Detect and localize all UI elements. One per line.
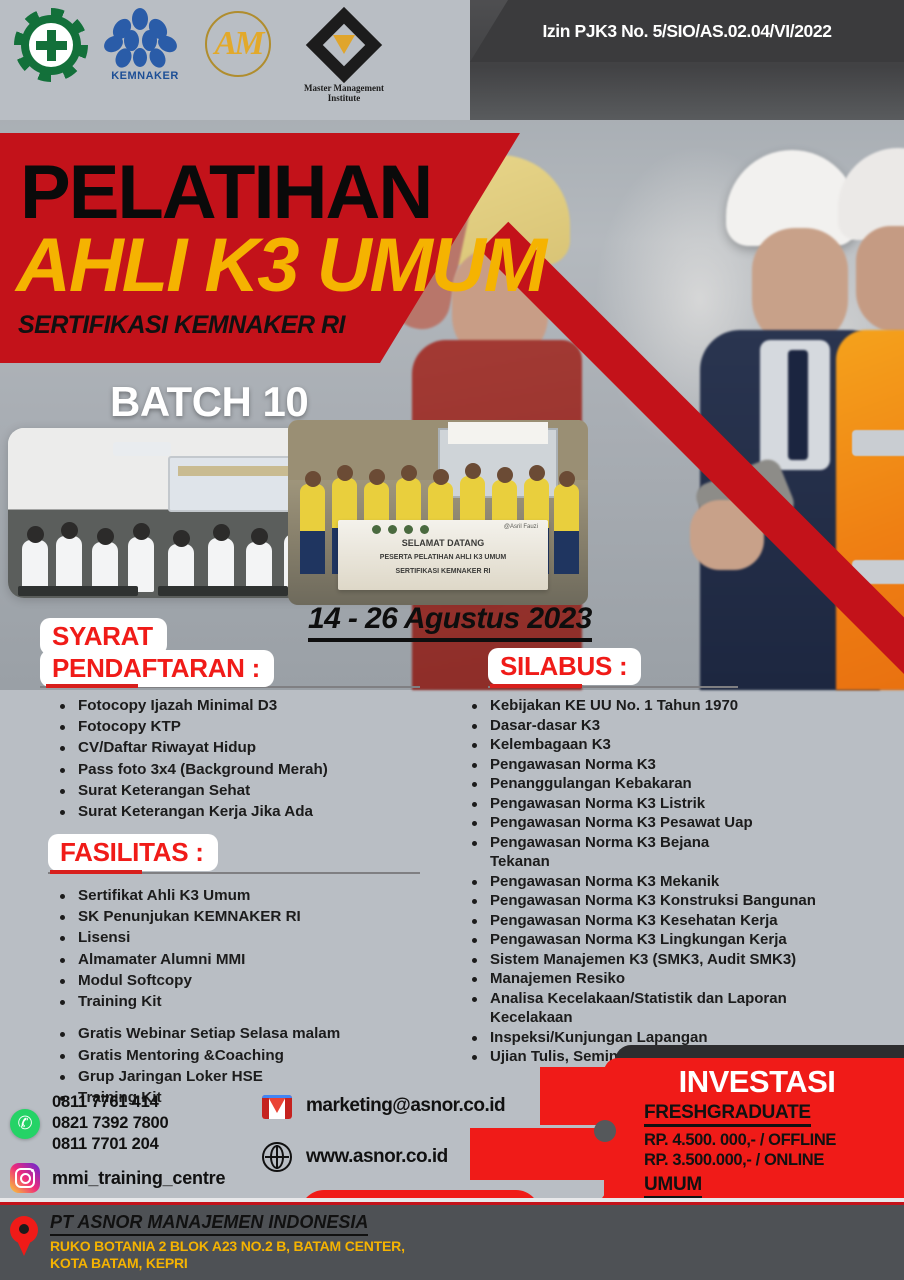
title-line-sertifikasi: SERTIFIKASI KEMNAKER RI [18, 311, 345, 340]
list-item: Fotocopy Ijazah Minimal D3 [56, 696, 456, 716]
banner-credit: @Asril Fauzi [504, 524, 538, 530]
location-pin-icon [10, 1216, 38, 1256]
worker-hand [690, 500, 764, 570]
list-item: Pengawasan Norma K3 Lingkungan Kerja [468, 930, 898, 950]
am-monogram-logo: AM [202, 8, 274, 80]
kemnaker-logo-caption: KEMNAKER [106, 70, 184, 82]
poster-root: KEMNAKER AM Master Management Institute … [0, 0, 904, 1280]
mmi-logo-caption: Master Management Institute [292, 83, 396, 103]
title-line-ahli-k3-umum: AHLI K3 UMUM [16, 228, 545, 304]
list-item: Penanggulangan Kebakaran [468, 774, 898, 794]
list-item: Analisa Kecelakaan/Statistik dan Laporan [468, 989, 898, 1009]
company-address: RUKO BOTANIA 2 BLOK A23 NO.2 B, BATAM CE… [50, 1238, 405, 1272]
welcome-banner: @Asril Fauzi SELAMAT DATANG PESERTA PELA… [338, 520, 548, 590]
instagram-contact[interactable]: mmi_training_centre [10, 1163, 225, 1193]
kemnaker-logo: KEMNAKER [106, 8, 184, 82]
website-contact[interactable]: www.asnor.co.id [262, 1142, 448, 1172]
list-item: Manajemen Resiko [468, 969, 898, 989]
list-item: Almamater Alumni MMI [56, 950, 456, 970]
investasi-tier2-label: UMUM [644, 1174, 702, 1199]
list-item: Pengawasan Norma K3 Bejana [468, 833, 898, 853]
training-date: 14 - 26 Agustus 2023 [308, 602, 592, 642]
title-text-group: PELATIHAN AHLI K3 UMUM SERTIFIKASI KEMNA… [0, 133, 904, 373]
permit-ribbon: Izin PJK3 No. 5/SIO/AS.02.04/VI/2022 [470, 0, 904, 62]
whatsapp-contact[interactable]: 0811 7761 414 0821 7392 7800 0811 7701 2… [10, 1092, 225, 1155]
address-line-2: KOTA BATAM, KEPRI [50, 1255, 405, 1272]
silabus-list: Kebijakan KE UU No. 1 Tahun 1970 Dasar-d… [468, 696, 898, 1067]
am-monogram-text: AM [202, 8, 274, 80]
list-item: Surat Keterangan Kerja Jika Ada [56, 802, 456, 822]
syarat-rule-accent [46, 684, 138, 688]
mmi-diamond-logo: Master Management Institute [292, 8, 396, 103]
k3-gear-logo [14, 8, 88, 82]
whatsapp-numbers: 0811 7761 414 0821 7392 7800 0811 7701 2… [52, 1092, 169, 1155]
list-item: SK Penunjukan KEMNAKER RI [56, 907, 456, 927]
silabus-rule-accent [490, 684, 582, 688]
company-name: PT ASNOR MANAJEMEN INDONESIA [50, 1212, 368, 1236]
fasilitas-heading: FASILITAS : [48, 834, 218, 871]
logo-group: KEMNAKER AM Master Management Institute [14, 8, 396, 103]
investasi-tier1-label: FRESHGRADUATE [644, 1102, 811, 1127]
investasi-title: INVESTASI [618, 1064, 896, 1100]
syarat-heading-line2: PENDAFTARAN : [40, 650, 274, 687]
investasi-tier1-row1: RP. 4.500. 000,- / OFFLINE [644, 1130, 896, 1150]
contact-block: 0811 7761 414 0821 7392 7800 0811 7701 2… [10, 1092, 225, 1193]
list-item: Surat Keterangan Sehat [56, 781, 456, 801]
title-line-pelatihan: PELATIHAN [20, 155, 431, 231]
list-item: CV/Daftar Riwayat Hidup [56, 738, 456, 758]
fasilitas-rule-accent [50, 870, 142, 874]
list-item: Pengawasan Norma K3 [468, 755, 898, 775]
phone-number: 0811 7701 204 [52, 1134, 169, 1155]
footer-divider-red [0, 1202, 904, 1205]
address-line-1: RUKO BOTANIA 2 BLOK A23 NO.2 B, BATAM CE… [50, 1238, 405, 1255]
list-item: Grup Jaringan Loker HSE [56, 1067, 456, 1087]
list-item: Pengawasan Norma K3 Listrik [468, 794, 898, 814]
website-url: www.asnor.co.id [306, 1146, 448, 1168]
hivis-band-upper [852, 430, 904, 456]
phone-number: 0811 7761 414 [52, 1092, 169, 1113]
hivis-jacket [836, 330, 904, 690]
list-item: Gratis Webinar Setiap Selasa malam [56, 1024, 456, 1044]
list-item: Pengawasan Norma K3 Konstruksi Bangunan [468, 891, 898, 911]
permit-text: Izin PJK3 No. 5/SIO/AS.02.04/VI/2022 [542, 21, 831, 42]
list-item: Kebijakan KE UU No. 1 Tahun 1970 [468, 696, 898, 716]
instagram-icon [10, 1163, 40, 1193]
fasilitas-list: Sertifikat Ahli K3 Umum SK Penunjukan KE… [56, 886, 456, 1109]
banner-line-3: SERTIFIKASI KEMNAKER RI [338, 568, 548, 575]
banner-line-2: PESERTA PELATIHAN AHLI K3 UMUM [338, 554, 548, 561]
banner-line-1: SELAMAT DATANG [338, 538, 548, 548]
instagram-handle: mmi_training_centre [52, 1167, 225, 1190]
list-item: Pengawasan Norma K3 Pesawat Uap [468, 813, 898, 833]
list-item: Pengawasan Norma K3 Mekanik [468, 872, 898, 892]
list-item-continuation: Tekanan [468, 852, 898, 872]
whatsapp-icon [10, 1109, 40, 1139]
photo-group: @Asril Fauzi SELAMAT DATANG PESERTA PELA… [288, 420, 588, 605]
list-item: Sistem Manajemen K3 (SMK3, Audit SMK3) [468, 950, 898, 970]
list-item: Sertifikat Ahli K3 Umum [56, 886, 456, 906]
investasi-tier1-row2: RP. 3.500.000,- / ONLINE [644, 1150, 896, 1170]
silabus-heading: SILABUS : [488, 648, 641, 685]
email-contact[interactable]: marketing@asnor.co.id [262, 1092, 505, 1119]
hivis-band-lower [852, 560, 904, 584]
email-address: marketing@asnor.co.id [306, 1095, 505, 1117]
syarat-list: Fotocopy Ijazah Minimal D3 Fotocopy KTP … [56, 696, 456, 823]
list-item: Gratis Mentoring &Coaching [56, 1046, 456, 1066]
list-item: Training Kit [56, 992, 456, 1012]
list-item: Fotocopy KTP [56, 717, 456, 737]
list-item: Dasar-dasar K3 [468, 716, 898, 736]
list-item: Lisensi [56, 928, 456, 948]
list-item: Kelembagaan K3 [468, 735, 898, 755]
list-item-continuation: Kecelakaan [468, 1008, 898, 1028]
globe-icon [262, 1142, 292, 1172]
batch-label: BATCH 10 [110, 378, 308, 426]
list-item: Pass foto 3x4 (Background Merah) [56, 760, 456, 780]
list-item: Pengawasan Norma K3 Kesehatan Kerja [468, 911, 898, 931]
panel-notch-top [594, 1120, 616, 1142]
list-item: Modul Softcopy [56, 971, 456, 991]
email-icon [262, 1095, 292, 1119]
phone-number: 0821 7392 7800 [52, 1113, 169, 1134]
